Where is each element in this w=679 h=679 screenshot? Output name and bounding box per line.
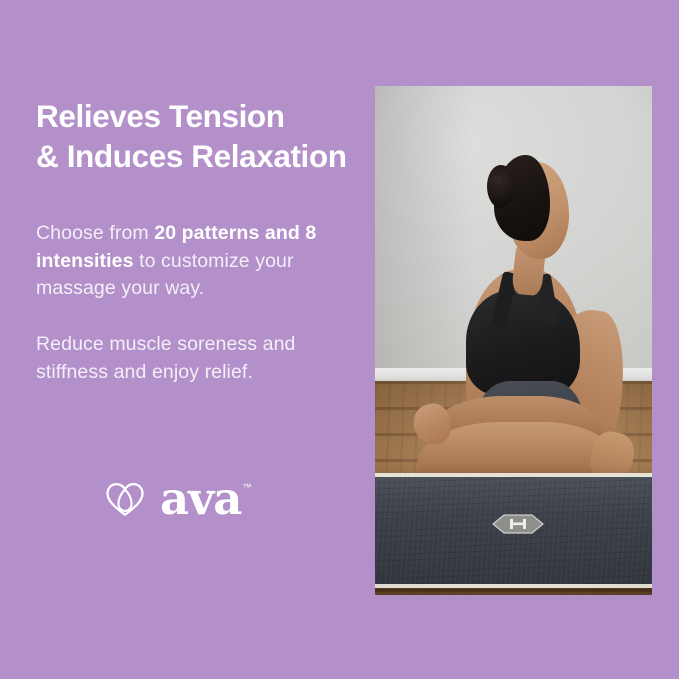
paragraph-1-text-a: Choose from <box>36 222 154 244</box>
logo-wordmark-wrap: ava ™ <box>160 476 251 521</box>
paragraph-1-bold-a: 20 patterns and <box>154 222 300 244</box>
massage-mat <box>375 473 652 588</box>
body-paragraph-2: Reduce muscle soreness and stiffness and… <box>36 331 356 386</box>
promo-graphic: Relieves Tension & Induces Relaxation Ch… <box>0 0 679 679</box>
logo-wordmark: ava <box>160 476 241 521</box>
copy-column: Relieves Tension & Induces Relaxation Ch… <box>36 96 356 386</box>
body-copy: Choose from 20 patterns and 8 intensitie… <box>36 220 356 386</box>
page-title: Relieves Tension & Induces Relaxation <box>36 96 356 176</box>
brand-logo: ava ™ <box>104 476 251 521</box>
heart-lotus-icon <box>104 478 146 520</box>
trademark-symbol: ™ <box>242 482 251 492</box>
figure-hair-bun <box>487 165 515 208</box>
body-paragraph-1: Choose from 20 patterns and 8 intensitie… <box>36 220 356 303</box>
lifestyle-photo <box>375 86 652 595</box>
mat-emblem-icon <box>490 511 546 537</box>
